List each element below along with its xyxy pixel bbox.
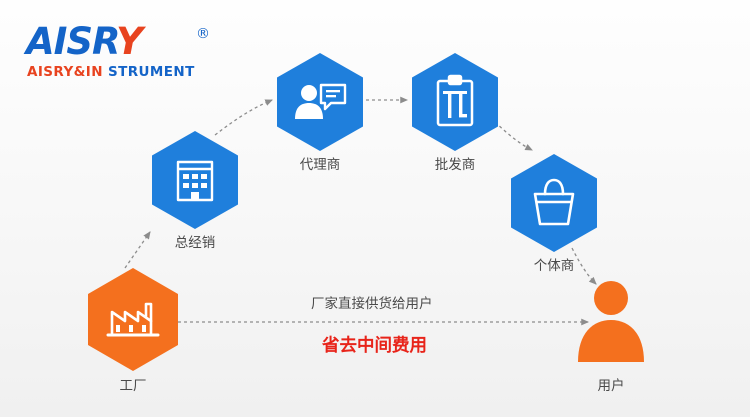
annotation-direct-supply: 厂家直接供货给用户	[311, 292, 433, 312]
annotation-save-cost: 省去中间费用	[322, 332, 427, 357]
factory-hexagon	[88, 268, 178, 371]
node-wholesaler[interactable]: 批发商	[412, 53, 498, 151]
wholesaler-hexagon	[412, 53, 498, 151]
registered-trademark-icon: ®	[196, 26, 210, 42]
node-individual-merchant[interactable]: 个体商	[511, 154, 597, 252]
node-label-general-distributor: 总经销	[115, 231, 275, 251]
arrow-wholesaler-to-merchant	[495, 122, 532, 150]
node-label-individual-merchant: 个体商	[474, 254, 634, 274]
node-agent[interactable]: 代理商	[277, 53, 363, 151]
user-person-figure	[568, 276, 654, 362]
arrow-distributor-to-agent	[215, 100, 272, 135]
brand-tagline: AISRY&IN STRUMENT	[27, 64, 195, 80]
node-user[interactable]: 用户	[568, 276, 654, 362]
brand-tagline-a: AISRY&IN	[27, 64, 103, 80]
node-label-factory: 工厂	[53, 374, 213, 394]
individual-merchant-hexagon	[511, 154, 597, 252]
node-label-user: 用户	[531, 374, 691, 394]
general-distributor-hexagon	[152, 131, 238, 229]
brand-wordmark-main: AISR	[26, 20, 116, 63]
brand-logo: AISRY ® AISRY&IN STRUMENT	[26, 22, 226, 84]
node-general-distributor[interactable]: 总经销	[152, 131, 238, 229]
brand-wordmark: AISRY	[26, 22, 142, 62]
agent-hexagon	[277, 53, 363, 151]
user-person-icon	[578, 281, 644, 362]
brand-tagline-b: STRUMENT	[108, 64, 195, 80]
brand-wordmark-accent: Y	[116, 20, 142, 63]
diagram-canvas: AISRY ® AISRY&IN STRUMENT 工厂	[0, 0, 750, 417]
node-factory[interactable]: 工厂	[88, 268, 178, 371]
